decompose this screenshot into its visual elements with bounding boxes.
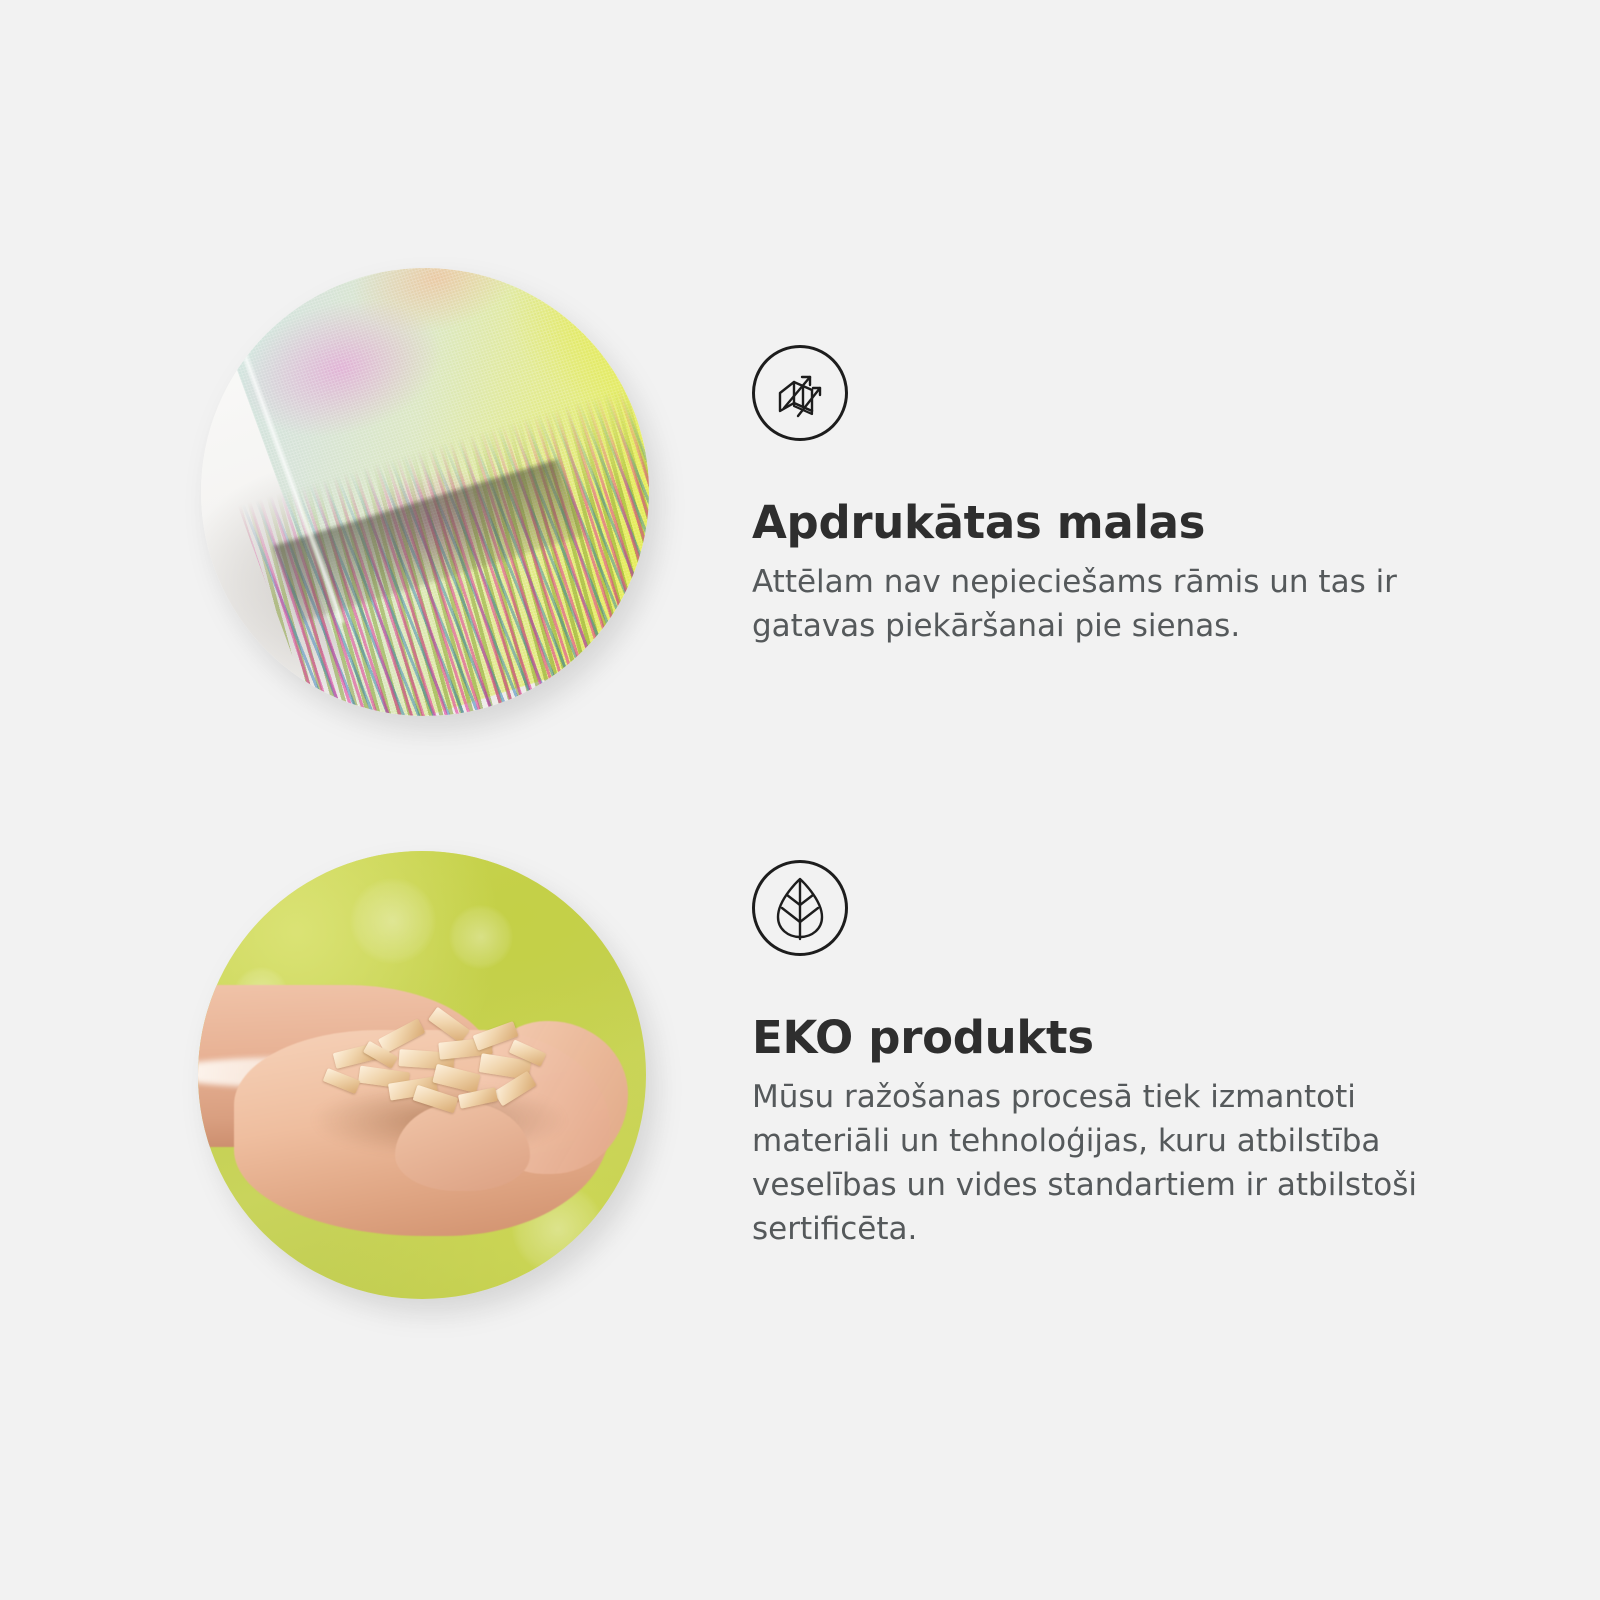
feature-block-printed-edges: Apdrukātas malas Attēlam nav nepieciešam…	[0, 0, 1600, 800]
circular-photo-frame	[198, 851, 646, 1299]
product-feature-banner: Apdrukātas malas Attēlam nav nepieciešam…	[0, 0, 1600, 1600]
feature-title: Apdrukātas malas	[752, 499, 1482, 546]
feature-description: Attēlam nav nepieciešams rāmis un tas ir…	[752, 560, 1482, 648]
feature-image-eco-product	[192, 845, 652, 1305]
printed-edges-icon	[752, 345, 848, 441]
feature-title: EKO produkts	[752, 1014, 1482, 1061]
feature-image-printed-edges	[195, 262, 655, 722]
feature-text-eco-product: EKO produkts Mūsu ražošanas procesā tiek…	[752, 860, 1482, 1251]
feature-block-eco-product: EKO produkts Mūsu ražošanas procesā tiek…	[0, 800, 1600, 1600]
eco-wood-chips-photo	[198, 851, 646, 1299]
circular-photo-frame	[201, 268, 649, 716]
wood-chip-pile	[319, 985, 570, 1128]
bokeh-highlight	[449, 905, 513, 969]
feature-text-printed-edges: Apdrukātas malas Attēlam nav nepieciešam…	[752, 345, 1482, 648]
leaf-icon	[752, 860, 848, 956]
canvas-print-corner-photo	[201, 268, 649, 716]
feature-description: Mūsu ražošanas procesā tiek izmantoti ma…	[752, 1075, 1482, 1251]
bokeh-highlight	[350, 878, 436, 964]
